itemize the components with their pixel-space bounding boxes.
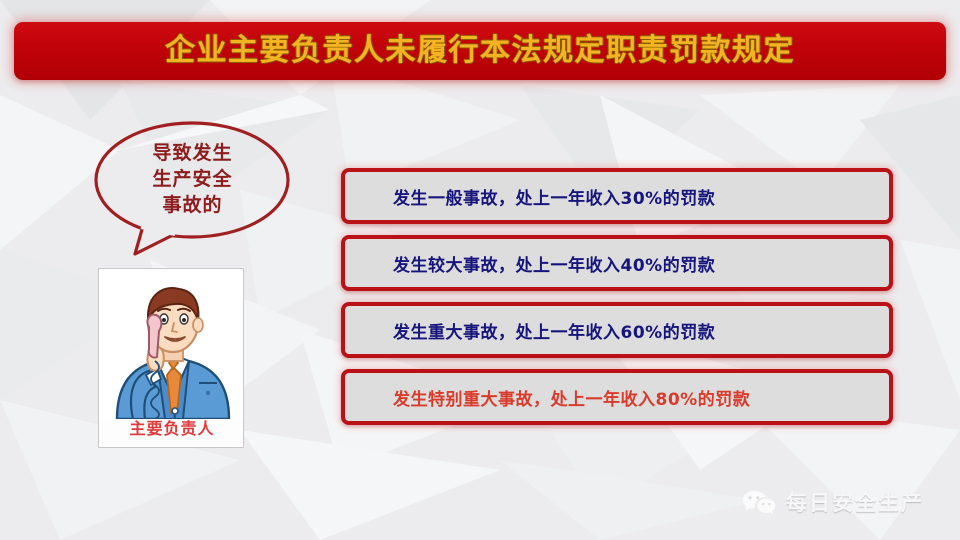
penalty-list: 发生一般事故，处上一年收入30%的罚款 发生较大事故，处上一年收入40%的罚款 …	[341, 168, 893, 425]
slide-canvas: 企业主要负责人未履行本法规定职责罚款规定 导致发生 生产安全 事故的	[0, 0, 960, 540]
speech-bubble: 导致发生 生产安全 事故的	[95, 122, 290, 237]
penalty-row[interactable]: 发生重大事故，处上一年收入60%的罚款	[341, 302, 893, 358]
penalty-label: 发生特别重大事故，处上一年收入80%的罚款	[345, 385, 750, 410]
person-card: 主要负责人	[98, 268, 244, 448]
page-title: 企业主要负责人未履行本法规定职责罚款规定	[165, 36, 795, 66]
wechat-label: 每日安全生产	[786, 487, 924, 517]
penalty-row[interactable]: 发生较大事故，处上一年收入40%的罚款	[341, 235, 893, 291]
wechat-icon	[742, 489, 776, 515]
penalty-row[interactable]: 发生特别重大事故，处上一年收入80%的罚款	[341, 369, 893, 425]
speech-bubble-shape	[87, 114, 302, 262]
penalty-label: 发生重大事故，处上一年收入60%的罚款	[345, 318, 715, 343]
penalty-label: 发生较大事故，处上一年收入40%的罚款	[345, 251, 715, 276]
wechat-footer: 每日安全生产	[742, 487, 924, 517]
title-banner: 企业主要负责人未履行本法规定职责罚款规定	[14, 22, 946, 80]
person-caption: 主要负责人	[99, 415, 244, 439]
businessman-on-phone-icon	[99, 271, 244, 419]
penalty-row[interactable]: 发生一般事故，处上一年收入30%的罚款	[341, 168, 893, 224]
penalty-label: 发生一般事故，处上一年收入30%的罚款	[345, 184, 715, 209]
